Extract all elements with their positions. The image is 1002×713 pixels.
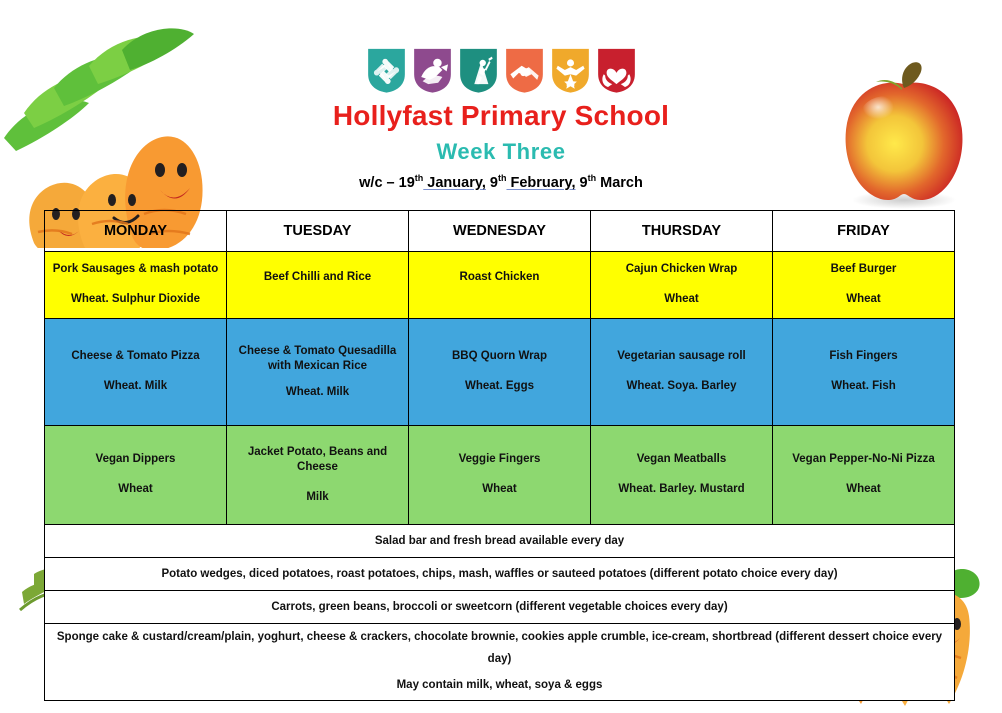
dish-name: Roast Chicken — [413, 270, 586, 286]
allergen-list: Wheat. Fish — [777, 379, 950, 395]
allergen-list: Wheat — [777, 292, 950, 308]
date-month-2: February, — [506, 175, 575, 191]
date-ordinal-1: th — [415, 173, 424, 183]
vegetable-note: Carrots, green beans, broccoli or sweetc… — [45, 591, 955, 624]
dish-name: Fish Fingers — [777, 349, 950, 365]
menu-cell-meat-thursday: Cajun Chicken Wrap Wheat — [591, 252, 773, 319]
dessert-note-line1: Sponge cake & custard/cream/plain, yoghu… — [57, 631, 942, 665]
potato-note-row: Potato wedges, diced potatoes, roast pot… — [45, 558, 955, 591]
allergen-list: Wheat. Barley. Mustard — [595, 482, 768, 498]
menu-cell-veg-thursday: Vegetarian sausage roll Wheat. Soya. Bar… — [591, 319, 773, 426]
dish-name-line2: with Mexican Rice — [231, 359, 404, 375]
menu-cell-vegan-monday: Vegan Dippers Wheat — [45, 426, 227, 525]
date-month-1: January, — [423, 175, 486, 191]
dish-name: Vegetarian sausage roll — [595, 349, 768, 365]
allergen-list: Wheat — [49, 482, 222, 498]
day-header-monday: MONDAY — [45, 211, 227, 252]
menu-page: Hollyfast Primary School Week Three w/c … — [0, 0, 1002, 709]
allergen-list: Wheat. Soya. Barley — [595, 379, 768, 395]
menu-cell-veg-friday: Fish Fingers Wheat. Fish — [773, 319, 955, 426]
date-month-3: March — [596, 175, 643, 191]
menu-cell-meat-friday: Beef Burger Wheat — [773, 252, 955, 319]
menu-cell-vegan-thursday: Vegan Meatballs Wheat. Barley. Mustard — [591, 426, 773, 525]
date-day-3: 9 — [576, 175, 588, 191]
menu-cell-veg-tuesday: Cheese & Tomato Quesadilla with Mexican … — [227, 319, 409, 426]
menu-cell-veg-wednesday: BBQ Quorn Wrap Wheat. Eggs — [409, 319, 591, 426]
menu-cell-meat-wednesday: Roast Chicken — [409, 252, 591, 319]
date-prefix: w/c – 19 — [359, 175, 415, 191]
allergen-list: Wheat. Milk — [231, 385, 404, 401]
dish-name: Beef Burger — [777, 262, 950, 278]
salad-note: Salad bar and fresh bread available ever… — [45, 525, 955, 558]
dish-name: Beef Chilli and Rice — [231, 270, 404, 286]
menu-table: MONDAY TUESDAY WEDNESDAY THURSDAY FRIDAY… — [44, 210, 955, 701]
dish-name: Vegan Meatballs — [595, 452, 768, 468]
date-line: w/c – 19th January, 9th February, 9th Ma… — [0, 173, 1002, 191]
dish-name: Veggie Fingers — [413, 452, 586, 468]
date-day-2: 9 — [486, 175, 498, 191]
dish-name: Cajun Chicken Wrap — [595, 262, 768, 278]
allergen-list: Wheat — [413, 482, 586, 498]
allergen-list: Wheat. Sulphur Dioxide — [49, 292, 222, 308]
dish-name: Pork Sausages & mash potato — [49, 262, 222, 278]
dish-name: Cheese & Tomato Pizza — [49, 349, 222, 365]
allergen-list: Wheat — [595, 292, 768, 308]
allergen-list: Wheat. Milk — [49, 379, 222, 395]
day-header-friday: FRIDAY — [773, 211, 955, 252]
table-header-row: MONDAY TUESDAY WEDNESDAY THURSDAY FRIDAY — [45, 211, 955, 252]
vegetable-note-row: Carrots, green beans, broccoli or sweetc… — [45, 591, 955, 624]
dish-name: Vegan Pepper-No-Ni Pizza — [777, 452, 950, 468]
date-ordinal-3: th — [588, 173, 597, 183]
dish-name: Vegan Dippers — [49, 452, 222, 468]
table-row-meat-option: Pork Sausages & mash potato Wheat. Sulph… — [45, 252, 955, 319]
allergen-list: Milk — [231, 490, 404, 506]
allergen-list: Wheat — [777, 482, 950, 498]
crest-kindness — [595, 46, 638, 94]
dish-name: Jacket Potato, Beans and Cheese — [231, 445, 404, 476]
crest-courage — [411, 46, 454, 94]
menu-cell-vegan-friday: Vegan Pepper-No-Ni Pizza Wheat — [773, 426, 955, 525]
school-values-crest-row — [0, 0, 1002, 94]
dish-name: BBQ Quorn Wrap — [413, 349, 586, 365]
menu-cell-vegan-tuesday: Jacket Potato, Beans and Cheese Milk — [227, 426, 409, 525]
menu-cell-vegan-wednesday: Veggie Fingers Wheat — [409, 426, 591, 525]
crest-perseverance — [457, 46, 500, 94]
crest-excellence — [549, 46, 592, 94]
salad-note-row: Salad bar and fresh bread available ever… — [45, 525, 955, 558]
crest-respect — [503, 46, 546, 94]
potato-note: Potato wedges, diced potatoes, roast pot… — [45, 558, 955, 591]
dessert-note: Sponge cake & custard/cream/plain, yoghu… — [45, 624, 955, 701]
menu-cell-meat-monday: Pork Sausages & mash potato Wheat. Sulph… — [45, 252, 227, 319]
menu-cell-meat-tuesday: Beef Chilli and Rice — [227, 252, 409, 319]
dessert-note-line2: May contain milk, wheat, soya & eggs — [49, 675, 950, 697]
menu-cell-veg-monday: Cheese & Tomato Pizza Wheat. Milk — [45, 319, 227, 426]
dessert-note-row: Sponge cake & custard/cream/plain, yoghu… — [45, 624, 955, 701]
table-row-vegetarian-option: Cheese & Tomato Pizza Wheat. Milk Cheese… — [45, 319, 955, 426]
week-title: Week Three — [0, 139, 1002, 165]
day-header-tuesday: TUESDAY — [227, 211, 409, 252]
crest-collaboration — [365, 46, 408, 94]
page-title: Hollyfast Primary School — [0, 100, 1002, 132]
page-header: Hollyfast Primary School Week Three w/c … — [0, 0, 1002, 191]
allergen-list: Wheat. Eggs — [413, 379, 586, 395]
day-header-wednesday: WEDNESDAY — [409, 211, 591, 252]
dish-name: Cheese & Tomato Quesadilla — [231, 344, 404, 360]
day-header-thursday: THURSDAY — [591, 211, 773, 252]
table-row-vegan-option: Vegan Dippers Wheat Jacket Potato, Beans… — [45, 426, 955, 525]
